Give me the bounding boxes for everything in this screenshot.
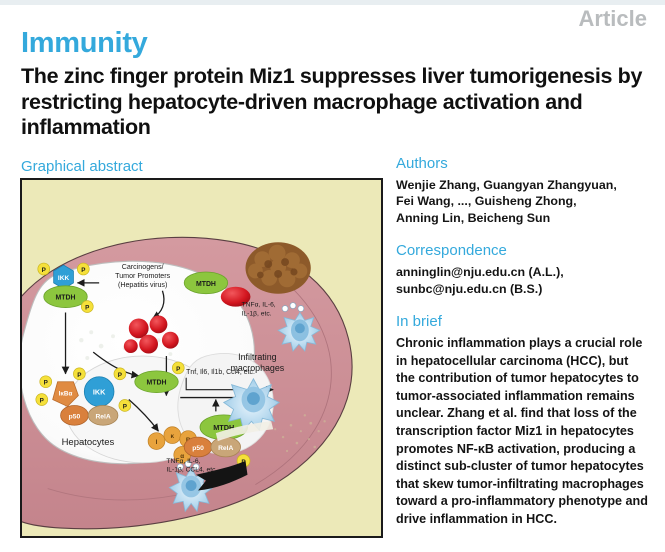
svg-text:P: P <box>118 372 122 379</box>
cytokines-top-line1: TNFα, IL-6, <box>242 302 276 309</box>
in-brief-text: Chronic inflammation plays a crucial rol… <box>396 335 648 529</box>
rela-label: RelA <box>218 445 233 452</box>
article-page: Article Immunity The zinc finger protein… <box>0 0 665 552</box>
authors-block: Authors Wenjie Zhang, Guangyan Zhangyuan… <box>396 155 648 226</box>
vesicle <box>124 339 138 353</box>
authors-heading: Authors <box>396 155 648 172</box>
svg-text:P: P <box>81 267 85 274</box>
hepatocytes-label: Hepatocytes <box>62 437 115 448</box>
authors-line-1: Wenjie Zhang, Guangyan Zhangyuan, <box>396 177 648 193</box>
cytokines-top-line2: IL-1β, etc. <box>242 310 272 317</box>
carcinogens-line3: (Hepatitis virus) <box>118 281 167 289</box>
mtdh-label: MTDH <box>147 380 167 387</box>
ikk-label: IKK <box>93 388 106 397</box>
correspondence-heading: Correspondence <box>396 242 648 259</box>
right-column: Authors Wenjie Zhang, Guangyan Zhangyuan… <box>396 155 648 545</box>
ikk-label: IKK <box>58 275 70 282</box>
page-title: The zinc finger protein Miz1 suppresses … <box>21 64 646 141</box>
cytokines-bottom-line2: IL-1β, CCL4, etc. <box>166 467 217 474</box>
svg-text:I: I <box>156 439 158 446</box>
correspondence-email-2[interactable]: sunbc@nju.edu.cn (B.S.) <box>396 281 648 297</box>
graphical-abstract-svg: Carcinogens/ Tumor Promoters (Hepatitis … <box>22 180 381 536</box>
rela-label: RelA <box>95 413 110 420</box>
in-brief-heading: In brief <box>396 313 648 330</box>
top-divider <box>0 0 665 5</box>
graphical-abstract-heading: Graphical abstract <box>21 158 143 175</box>
svg-text:P: P <box>42 267 46 274</box>
vesicle <box>139 335 158 354</box>
authors-line-3: Anning Lin, Beicheng Sun <box>396 210 648 226</box>
graphical-abstract-figure: Carcinogens/ Tumor Promoters (Hepatitis … <box>20 178 383 538</box>
vesicle <box>150 315 168 333</box>
mtdh-label: MTDH <box>196 281 216 288</box>
tumor-nodule <box>246 242 311 293</box>
cytokines-bottom-line1: TNFα, IL-6, <box>166 458 200 465</box>
carcinogens-label: Carcinogens/ Tumor Promoters (Hepatitis … <box>115 263 170 289</box>
correspondence-email-1[interactable]: anninglin@nju.edu.cn (A.L.), <box>396 264 648 280</box>
p50-label: p50 <box>69 413 81 420</box>
correspondence-block: Correspondence anninglin@nju.edu.cn (A.L… <box>396 242 648 297</box>
carcinogens-line1: Carcinogens/ <box>122 263 164 271</box>
authors-line-2: Fei Wang, ..., Guisheng Zhong, <box>396 193 648 209</box>
article-type-label: Article <box>579 6 647 32</box>
carcinogens-line2: Tumor Promoters <box>115 272 170 280</box>
infiltrating-line1: Infiltrating <box>238 352 277 362</box>
ikba-label: IκBα <box>59 391 73 398</box>
mtdh-label: MTDH <box>56 295 76 302</box>
p50-label: p50 <box>192 445 204 452</box>
svg-text:P: P <box>44 380 48 387</box>
journal-name: Immunity <box>21 27 148 60</box>
svg-text:P: P <box>40 398 44 405</box>
svg-text:P: P <box>85 305 89 312</box>
vesicle <box>162 332 179 349</box>
svg-text:κ: κ <box>171 433 175 440</box>
svg-text:P: P <box>77 372 81 379</box>
mtdh-complex-right: MTDH <box>184 272 228 294</box>
in-brief-block: In brief Chronic inflammation plays a cr… <box>396 313 648 529</box>
svg-text:P: P <box>176 366 180 373</box>
infiltrating-line2: macrophages <box>230 363 284 373</box>
svg-text:P: P <box>123 403 127 410</box>
